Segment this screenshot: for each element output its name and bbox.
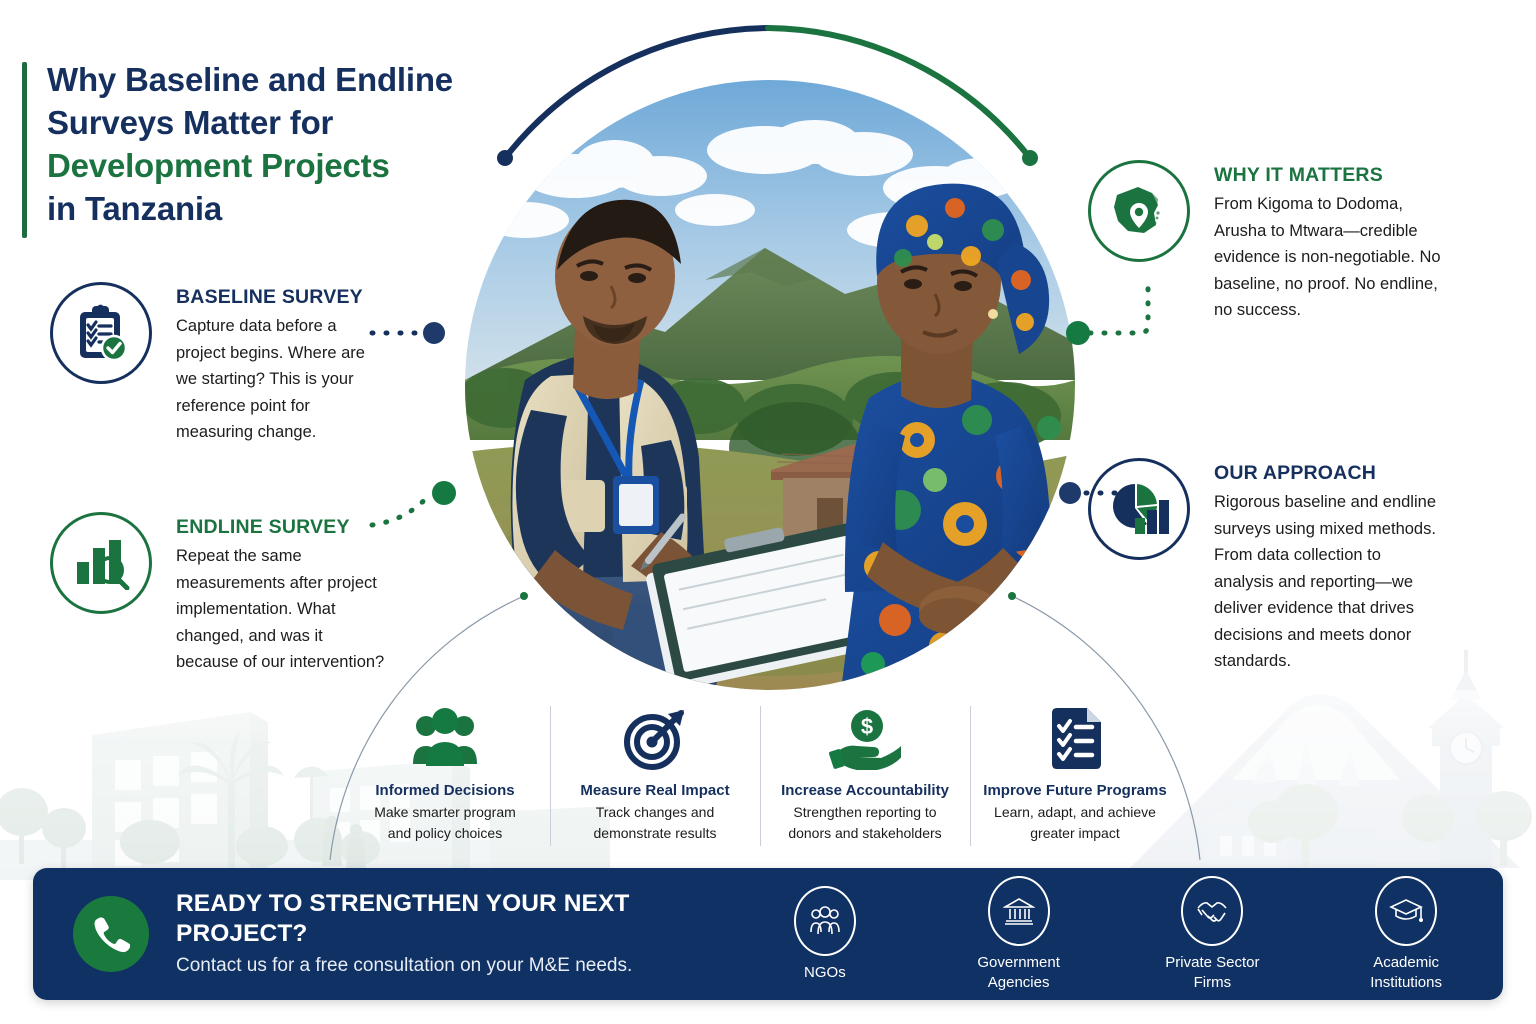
- audience-label-line1: Private Sector: [1165, 953, 1259, 973]
- benefit-improve-future-programs: Improve Future Programs Learn, adapt, an…: [970, 700, 1180, 860]
- card-body: Rigorous baseline and endline surveys us…: [1214, 489, 1444, 675]
- audience-ngos[interactable]: NGOs: [728, 875, 922, 993]
- audience-label-line2: Agencies: [977, 973, 1060, 993]
- card-body: Capture data before a project begins. Wh…: [176, 313, 388, 446]
- benefit-desc-line2: greater impact: [994, 823, 1156, 844]
- benefits-row: Informed Decisions Make smarter program …: [340, 700, 1180, 860]
- audience-label: Academic Institutions: [1370, 953, 1442, 993]
- benefit-desc: Strengthen reporting to donors and stake…: [788, 802, 941, 844]
- audience-label-line1: Academic: [1370, 953, 1442, 973]
- checklist-document-icon: [1047, 700, 1103, 770]
- card-heading: BASELINE SURVEY: [176, 286, 388, 309]
- benefit-measure-real-impact: Measure Real Impact Track changes and de…: [550, 700, 760, 860]
- benefit-desc-line1: Learn, adapt, and achieve: [994, 802, 1156, 823]
- benefit-desc-line1: Make smarter program: [374, 802, 516, 823]
- audience-label: NGOs: [804, 963, 846, 983]
- card-heading: ENDLINE SURVEY: [176, 516, 388, 539]
- benefit-increase-accountability: $ Increase Accountability Strengthen rep…: [760, 700, 970, 860]
- benefit-desc-line1: Track changes and: [594, 802, 717, 823]
- benefit-title: Increase Accountability: [781, 782, 949, 799]
- audience-government-agencies[interactable]: Government Agencies: [922, 875, 1116, 993]
- title-accent-bar: [22, 62, 27, 238]
- audience-academic-institutions[interactable]: Academic Institutions: [1309, 875, 1503, 993]
- tanzania-map-pin-icon: [1088, 160, 1190, 262]
- audience-label-line1: Government: [977, 953, 1060, 973]
- connector-why-it-matters: [1066, 282, 1148, 345]
- benefit-title: Improve Future Programs: [983, 782, 1166, 799]
- page-title: Why Baseline and Endline Surveys Matter …: [47, 58, 517, 230]
- benefit-desc: Track changes and demonstrate results: [594, 802, 717, 844]
- benefit-desc-line2: donors and stakeholders: [788, 823, 941, 844]
- bar-chart-magnifier-icon: [50, 512, 152, 614]
- benefit-informed-decisions: Informed Decisions Make smarter program …: [340, 700, 550, 860]
- people-group-icon: [409, 700, 481, 770]
- title-line-1: Why Baseline and Endline: [47, 58, 517, 101]
- field-survey-photo: [465, 80, 1075, 690]
- audience-label: Government Agencies: [977, 953, 1060, 993]
- cta-headline: READY TO STRENGTHEN YOUR NEXT PROJECT?: [176, 889, 706, 949]
- benefit-title: Measure Real Impact: [580, 782, 729, 799]
- svg-text:$: $: [861, 714, 873, 739]
- benefit-desc-line2: demonstrate results: [594, 823, 717, 844]
- benefit-desc: Make smarter program and policy choices: [374, 802, 516, 844]
- title-line-2: Surveys Matter for: [47, 101, 517, 144]
- handshake-icon: [1181, 876, 1243, 946]
- benefit-desc-line1: Strengthen reporting to: [788, 802, 941, 823]
- benefit-desc: Learn, adapt, and achieve greater impact: [994, 802, 1156, 844]
- title-line-3: Development Projects: [47, 144, 517, 187]
- people-group-outline-icon: [794, 886, 856, 956]
- cta-banner[interactable]: READY TO STRENGTHEN YOUR NEXT PROJECT? C…: [33, 868, 1503, 1000]
- card-heading: OUR APPROACH: [1214, 462, 1444, 485]
- card-body: Repeat the same measurements after proje…: [176, 543, 388, 676]
- cta-text-block: READY TO STRENGTHEN YOUR NEXT PROJECT? C…: [176, 889, 706, 979]
- clipboard-check-icon: [50, 282, 152, 384]
- audience-label-line2: Firms: [1165, 973, 1259, 993]
- pie-bar-chart-icon: [1088, 458, 1190, 560]
- audience-label-line2: Institutions: [1370, 973, 1442, 993]
- cta-subline: Contact us for a free consultation on yo…: [176, 953, 706, 979]
- audience-list: NGOs Government: [728, 868, 1503, 1000]
- graduation-cap-icon: [1375, 876, 1437, 946]
- government-building-icon: [988, 876, 1050, 946]
- audience-label-line1: NGOs: [804, 963, 846, 983]
- card-heading: WHY IT MATTERS: [1214, 164, 1444, 187]
- audience-label: Private Sector Firms: [1165, 953, 1259, 993]
- benefit-desc-line2: and policy choices: [374, 823, 516, 844]
- hand-money-icon: $: [829, 700, 901, 770]
- card-body: From Kigoma to Dodoma, Arusha to Mtwara—…: [1214, 191, 1444, 324]
- target-arrow-icon: [622, 700, 688, 770]
- benefit-title: Informed Decisions: [375, 782, 514, 799]
- infographic-root: Why Baseline and Endline Surveys Matter …: [0, 0, 1536, 1024]
- audience-private-sector-firms[interactable]: Private Sector Firms: [1116, 875, 1310, 993]
- phone-icon: [73, 896, 149, 972]
- title-line-4: in Tanzania: [47, 187, 517, 230]
